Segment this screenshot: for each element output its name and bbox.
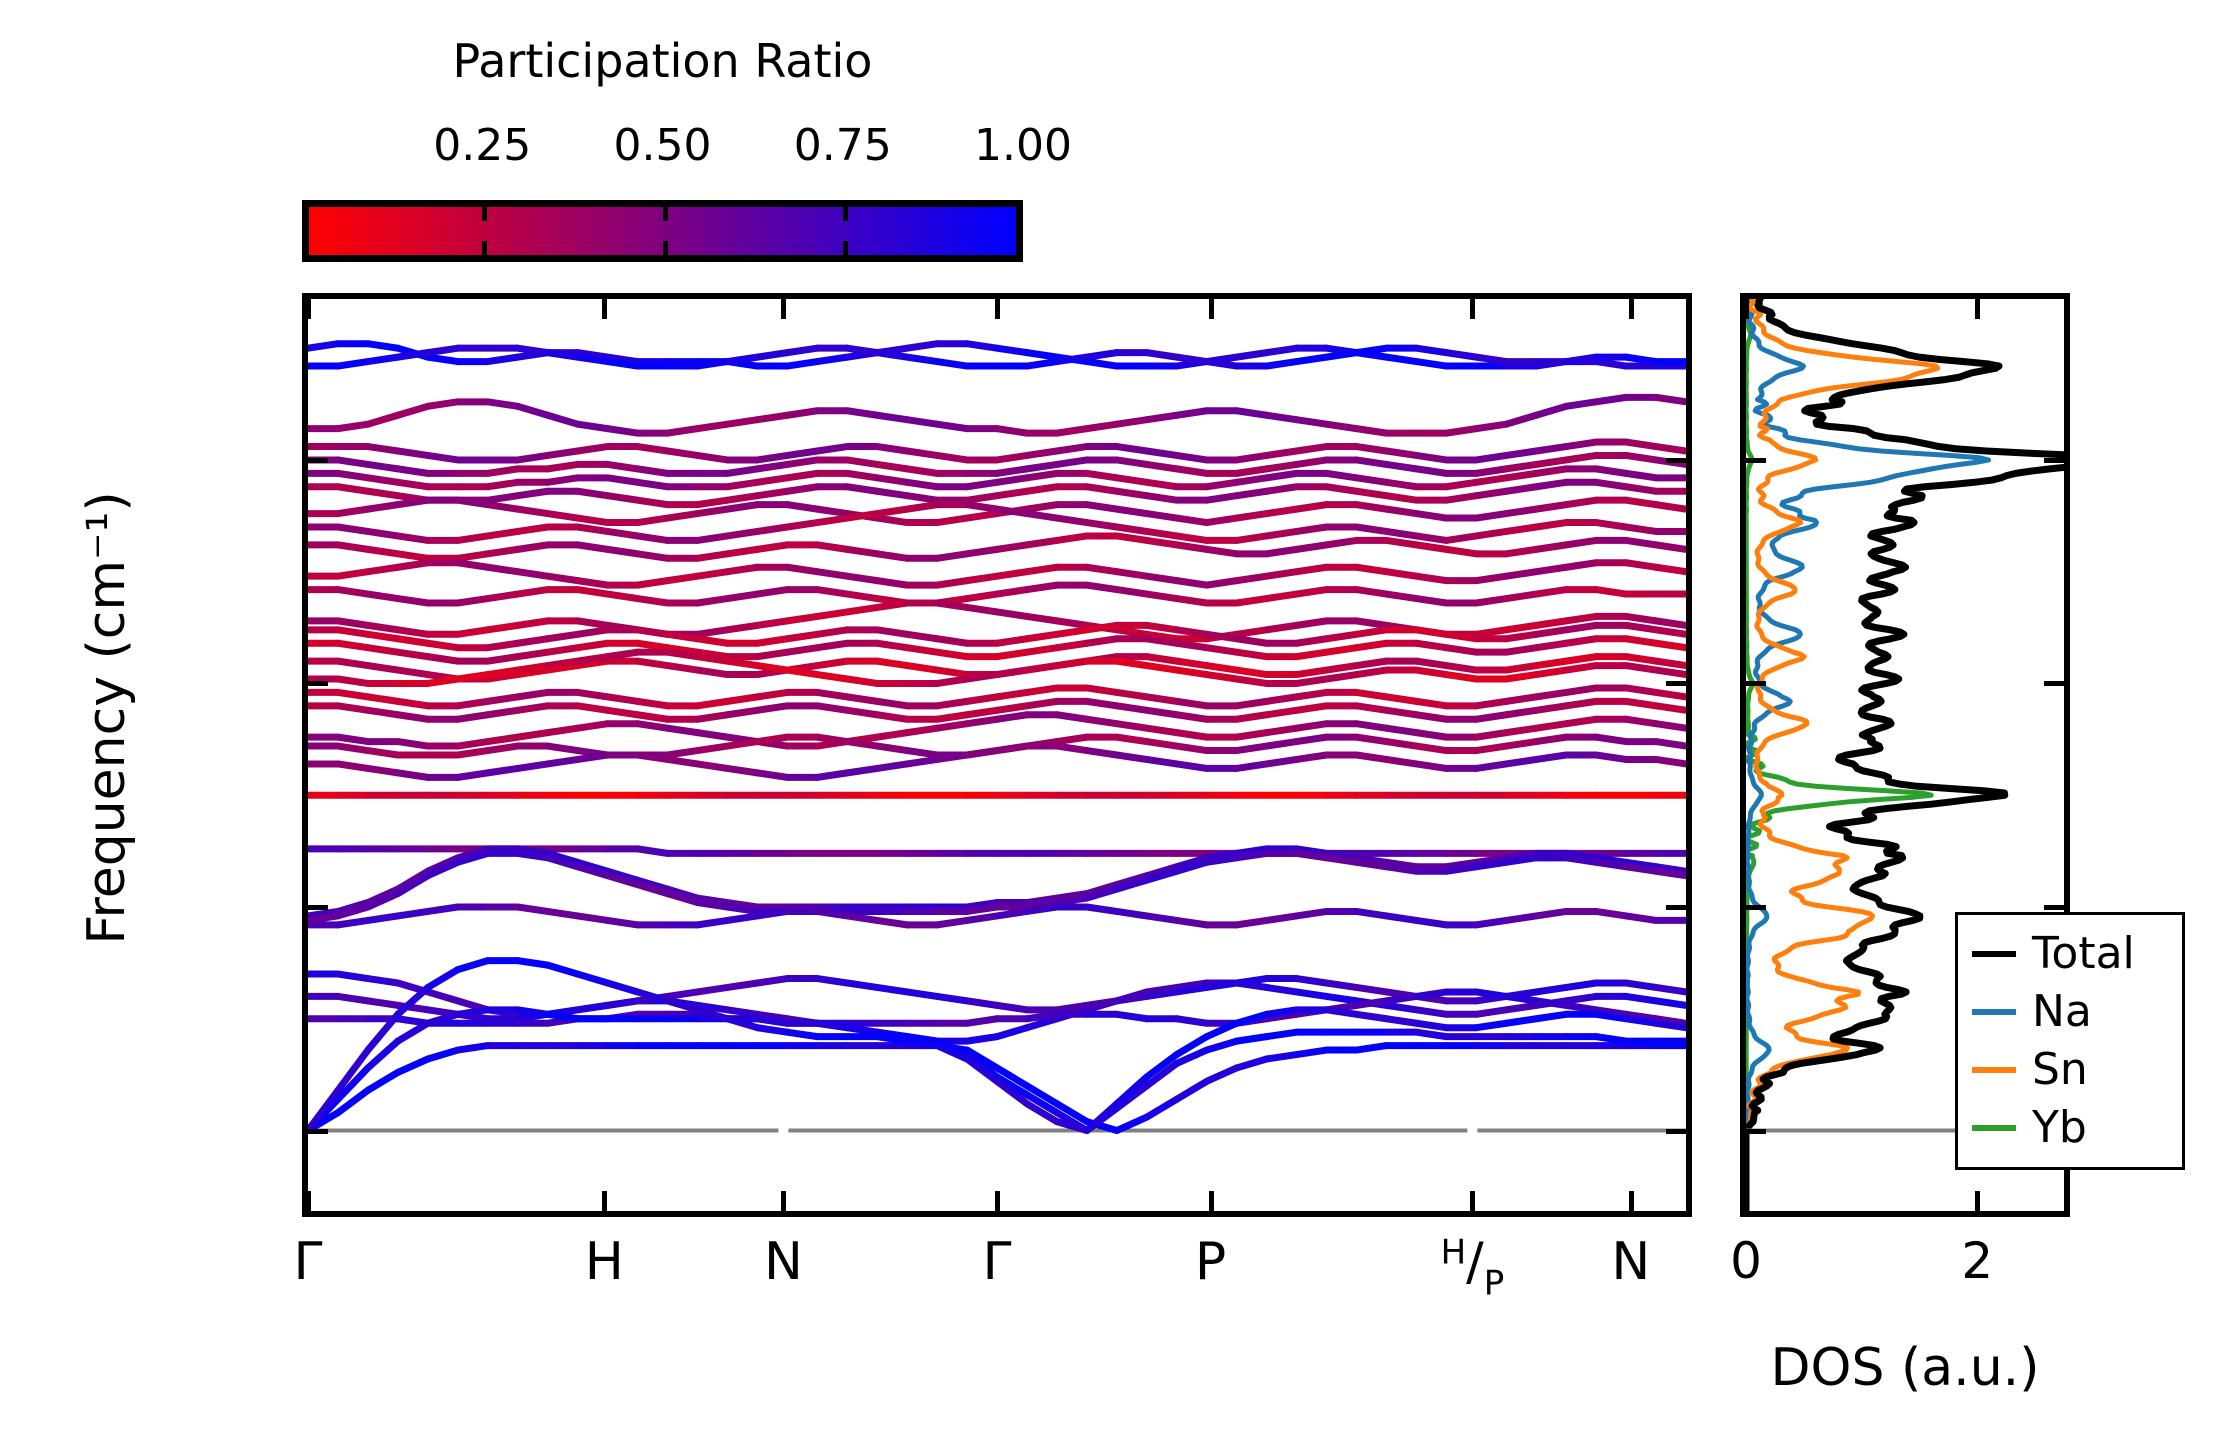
band-segment (877, 630, 907, 634)
band-segment (488, 710, 518, 714)
band-segment (1237, 979, 1267, 983)
band-segment (907, 648, 937, 652)
band-segment (757, 353, 787, 357)
band-segment (338, 737, 368, 741)
band-segment (398, 599, 428, 603)
band-segment (1626, 996, 1656, 1000)
band-segment (1626, 983, 1656, 987)
band-segment (1596, 862, 1626, 866)
band-segment (1386, 1005, 1416, 1009)
band-segment (428, 657, 458, 661)
band-segment (727, 768, 757, 772)
band-segment (1057, 630, 1087, 634)
band-segment (967, 482, 997, 486)
band-segment (667, 634, 697, 638)
band-segment (1117, 996, 1147, 1000)
band-segment (1177, 630, 1207, 634)
band-segment (368, 1001, 398, 1005)
band-segment (338, 590, 368, 594)
band-segment (1177, 643, 1207, 647)
band-segment (967, 719, 997, 723)
band-segment (757, 621, 787, 625)
band-segment (578, 357, 608, 361)
band-segment (1297, 670, 1327, 674)
band-segment (877, 715, 907, 719)
band-segment (1237, 920, 1267, 924)
band-x-tick-label: Γ (294, 1232, 323, 1292)
band-segment (1356, 911, 1386, 915)
band-segment (907, 357, 937, 361)
band-segment (757, 666, 787, 670)
band-segment (368, 491, 398, 495)
band-segment (608, 594, 638, 598)
phonon-band (308, 536, 1686, 558)
band-segment (1117, 590, 1147, 594)
band-segment (997, 652, 1027, 656)
band-segment (1356, 1014, 1386, 1018)
y-axis-tick-labels: 050100150 (0, 0, 282, 1455)
band-segment (787, 1032, 817, 1036)
band-segment (398, 670, 428, 674)
band-segment (1267, 531, 1297, 535)
legend-label: Yb (2032, 1106, 2087, 1150)
band-x-tick-label: Γ (983, 1232, 1012, 1292)
band-segment (578, 692, 608, 696)
band-segment (697, 920, 727, 924)
band-segment (1027, 1014, 1057, 1018)
band-segment (1177, 661, 1207, 665)
band-segment (997, 545, 1027, 549)
band-segment (1237, 853, 1267, 857)
band-segment (1476, 576, 1506, 580)
band-segment (817, 692, 847, 696)
band-segment (937, 920, 967, 924)
band-segment (1416, 362, 1446, 366)
band-segment (368, 768, 398, 772)
band-segment (458, 563, 488, 567)
band-segment (877, 509, 907, 513)
band-segment (1656, 742, 1686, 746)
band-segment (1566, 625, 1596, 629)
colorbar-tick (843, 241, 848, 255)
band-segment (1087, 505, 1117, 509)
band-segment (1356, 706, 1386, 710)
band-segment (1536, 692, 1566, 696)
band-x-axis-tick-labels: ΓHNΓPH/PN (302, 1232, 1692, 1322)
band-segment (1566, 983, 1596, 987)
band-segment (1147, 742, 1177, 746)
band-segment (1506, 509, 1536, 513)
band-segment (1177, 469, 1207, 473)
band-segment (1327, 666, 1357, 670)
band-segment (1626, 540, 1656, 544)
phonon-band (308, 442, 1686, 460)
band-segment (697, 572, 727, 576)
band-segment (787, 348, 817, 352)
band-segment (1566, 688, 1596, 692)
band-segment (967, 1019, 997, 1023)
band-segment (1626, 455, 1656, 459)
band-segment (1506, 464, 1536, 468)
band-segment (1476, 630, 1506, 634)
band-segment (697, 362, 727, 366)
band-segment (338, 473, 368, 477)
band-segment (1416, 576, 1446, 580)
band-segment (548, 353, 578, 357)
band-segment (817, 643, 847, 647)
band-segment (338, 572, 368, 576)
band-segment (398, 451, 428, 455)
band-segment (1297, 706, 1327, 710)
band-segment (638, 643, 668, 647)
band-segment (1327, 996, 1357, 1000)
band-segment (338, 974, 368, 978)
band-segment (1267, 1055, 1297, 1059)
band-segment (638, 661, 668, 665)
band-segment (1506, 634, 1536, 638)
band-segment (1057, 518, 1087, 522)
band-segment (548, 1014, 578, 1018)
band-segment (1506, 625, 1536, 629)
band-segment (1087, 523, 1117, 527)
band-segment (488, 643, 518, 647)
band-segment (697, 670, 727, 674)
band-segment (1297, 679, 1327, 683)
legend-label: Na (2032, 990, 2092, 1034)
band-segment (937, 724, 967, 728)
band-segment (398, 536, 428, 540)
legend-item: Na (1958, 983, 2182, 1041)
band-segment (338, 643, 368, 647)
band-segment (1416, 746, 1446, 750)
band-segment (1626, 719, 1656, 723)
band-segment (937, 362, 967, 366)
band-segment (1267, 728, 1297, 732)
band-segment (578, 581, 608, 585)
band-segment (1386, 867, 1416, 871)
band-segment (608, 464, 638, 468)
band-segment (1087, 585, 1117, 589)
band-segment (817, 630, 847, 634)
band-segment (667, 652, 697, 656)
band-segment (1147, 710, 1177, 714)
band-segment (877, 478, 907, 482)
band-segment (488, 567, 518, 571)
band-segment (997, 639, 1027, 643)
band-segment (1536, 505, 1566, 509)
band-segment (847, 607, 877, 611)
band-segment (967, 916, 997, 920)
band-segment (1117, 661, 1147, 665)
band-segment (518, 590, 548, 594)
band-segment (1057, 643, 1087, 647)
band-segment (787, 567, 817, 571)
band-segment (1177, 920, 1207, 924)
band-segment (1446, 536, 1476, 540)
band-segment (877, 920, 907, 924)
band-segment (727, 916, 757, 920)
band-segment (548, 648, 578, 652)
band-segment (368, 634, 398, 638)
band-segment (1506, 697, 1536, 701)
band-segment (1267, 572, 1297, 576)
band-segment (518, 764, 548, 768)
band-segment (1416, 1010, 1446, 1014)
band-segment (757, 1019, 787, 1023)
band-segment (1087, 487, 1117, 491)
band-segment (1237, 1059, 1267, 1068)
band-segment (1297, 853, 1327, 857)
band-segment (1566, 402, 1596, 406)
band-segment (1506, 728, 1536, 732)
band-segment (1446, 648, 1476, 652)
band-segment (1476, 733, 1506, 737)
band-segment (1147, 514, 1177, 518)
band-segment (1476, 992, 1506, 996)
band-segment (907, 420, 937, 424)
band-segment (1536, 643, 1566, 647)
band-segment (877, 447, 907, 451)
band-segment (847, 983, 877, 987)
band-segment (1446, 549, 1476, 553)
band-segment (727, 549, 757, 553)
band-segment (1297, 527, 1327, 531)
band-segment (1237, 630, 1267, 634)
band-segment (967, 607, 997, 611)
band-segment (1506, 1019, 1536, 1023)
band-segment (518, 509, 548, 513)
legend-label: Sn (2032, 1048, 2088, 1092)
band-segment (997, 670, 1027, 674)
band-segment (757, 639, 787, 643)
band-segment (817, 675, 847, 679)
band-segment (1327, 1010, 1357, 1014)
band-segment (458, 773, 488, 777)
phonon-bandstructure-dos-figure: Participation Ratio 0.250.500.751.00 Fre… (0, 0, 2222, 1455)
band-segment (1416, 469, 1446, 473)
band-segment (1027, 616, 1057, 620)
band-segment (608, 710, 638, 714)
band-segment (1386, 742, 1416, 746)
band-segment (1267, 473, 1297, 477)
band-segment (727, 1010, 757, 1014)
band-segment (1356, 1001, 1386, 1005)
band-segment (518, 733, 548, 737)
band-segment (967, 576, 997, 580)
band-segment (1027, 505, 1057, 509)
band-segment (757, 773, 787, 777)
band-segment (368, 464, 398, 468)
band-segment (488, 482, 518, 486)
legend-item: Total (1958, 925, 2182, 983)
band-segment (1356, 670, 1386, 674)
band-segment (1356, 1046, 1386, 1050)
band-segment (847, 348, 877, 352)
band-segment (368, 1072, 398, 1090)
band-segment (1207, 581, 1237, 585)
band-segment (817, 661, 847, 665)
band-segment (1147, 531, 1177, 535)
band-segment (1117, 460, 1147, 464)
band-segment (1297, 979, 1327, 983)
band-segment (1267, 1010, 1297, 1014)
band-segment (1027, 514, 1057, 518)
band-segment (308, 916, 338, 920)
band-segment (458, 500, 488, 504)
band-segment (1656, 661, 1686, 665)
band-segment (817, 911, 847, 915)
band-x-tick-label: P (1195, 1232, 1226, 1292)
band-segment (1566, 1005, 1596, 1009)
band-segment (488, 469, 518, 473)
band-segment (1626, 916, 1656, 920)
band-segment (847, 697, 877, 701)
band-segment (458, 1010, 488, 1014)
band-segment (907, 344, 937, 348)
band-segment (1177, 987, 1207, 991)
band-segment (1267, 710, 1297, 714)
band-segment (787, 473, 817, 477)
band-segment (1626, 639, 1656, 643)
band-segment (1596, 482, 1626, 486)
band-segment (1117, 478, 1147, 482)
band-segment (697, 903, 727, 907)
band-segment (1386, 916, 1416, 920)
band-segment (727, 420, 757, 424)
band-segment (428, 348, 458, 352)
band-segment (1267, 759, 1297, 763)
band-segment (1297, 447, 1327, 451)
band-segment (458, 751, 488, 755)
band-segment (1476, 514, 1506, 518)
band-segment (697, 455, 727, 459)
band-segment (997, 1028, 1027, 1037)
band-segment (1207, 362, 1237, 366)
band-segment (757, 455, 787, 459)
band-segment (638, 755, 668, 759)
band-segment (1356, 755, 1386, 759)
band-segment (1536, 661, 1566, 665)
band-segment (548, 415, 578, 424)
band-segment (1356, 478, 1386, 482)
band-segment (727, 697, 757, 701)
band-segment (1207, 983, 1237, 987)
band-segment (638, 701, 668, 705)
band-segment (1656, 505, 1686, 509)
band-segment (877, 353, 907, 357)
band-segment (398, 554, 428, 558)
band-segment (727, 710, 757, 714)
band-segment (1446, 634, 1476, 638)
band-segment (877, 764, 907, 768)
band-segment (1506, 1005, 1536, 1009)
band-segment (1267, 987, 1297, 991)
phonon-band (308, 563, 1686, 585)
band-segment (1506, 594, 1536, 598)
band-segment (667, 666, 697, 670)
band-segment (1656, 397, 1686, 401)
band-segment (338, 746, 368, 750)
band-segment (518, 639, 548, 643)
band-segment (1536, 670, 1566, 674)
band-segment (398, 715, 428, 719)
band-segment (997, 455, 1027, 459)
band-segment (1267, 464, 1297, 468)
band-segment (1057, 536, 1087, 540)
band-segment (1446, 666, 1476, 670)
colorbar-tick-label: 0.25 (433, 120, 531, 171)
band-segment (578, 518, 608, 522)
band-segment (1027, 540, 1057, 544)
band-segment (1027, 585, 1057, 589)
band-segment (907, 992, 937, 996)
band-segment (1656, 759, 1686, 763)
band-segment (937, 755, 967, 759)
band-segment (548, 464, 578, 468)
band-segment (1027, 634, 1057, 638)
band-segment (1536, 706, 1566, 710)
band-segment (1536, 406, 1566, 415)
band-x-tick-label: N (1611, 1232, 1650, 1292)
band-segment (1506, 916, 1536, 920)
band-segment (1087, 625, 1117, 629)
band-segment (338, 630, 368, 634)
band-segment (1506, 487, 1536, 491)
band-segment (727, 531, 757, 535)
band-segment (308, 344, 338, 348)
band-segment (1386, 531, 1416, 535)
band-segment (1506, 666, 1536, 670)
band-segment (1297, 567, 1327, 571)
band-segment (1476, 1010, 1506, 1014)
band-segment (1656, 630, 1686, 634)
band-segment (398, 353, 428, 357)
band-segment (1147, 728, 1177, 732)
colorbar-tick (843, 207, 848, 221)
band-segment (368, 666, 398, 670)
band-segment (1147, 594, 1177, 598)
band-segment (1327, 424, 1357, 428)
band-segment (967, 505, 997, 509)
band-segment (1177, 545, 1207, 549)
band-segment (757, 478, 787, 482)
band-segment (458, 961, 488, 970)
band-segment (1356, 460, 1386, 464)
band-segment (1386, 482, 1416, 486)
band-segment (608, 429, 638, 433)
band-segment (1267, 487, 1297, 491)
band-segment (1267, 549, 1297, 553)
band-segment (1177, 764, 1207, 768)
band-segment (847, 460, 877, 464)
band-segment (1386, 996, 1416, 1000)
band-segment (1356, 737, 1386, 741)
band-segment (1626, 666, 1656, 670)
band-segment (1087, 353, 1117, 357)
band-segment (638, 482, 668, 486)
band-segment (1596, 755, 1626, 759)
band-segment (518, 348, 548, 352)
band-segment (1117, 420, 1147, 424)
band-segment (1596, 1037, 1626, 1041)
band-segment (1566, 616, 1596, 620)
band-segment (1147, 625, 1177, 629)
band-segment (368, 549, 398, 553)
band-segment (368, 505, 398, 509)
band-segment (1057, 357, 1087, 361)
band-segment (1237, 652, 1267, 656)
band-segment (877, 603, 907, 607)
